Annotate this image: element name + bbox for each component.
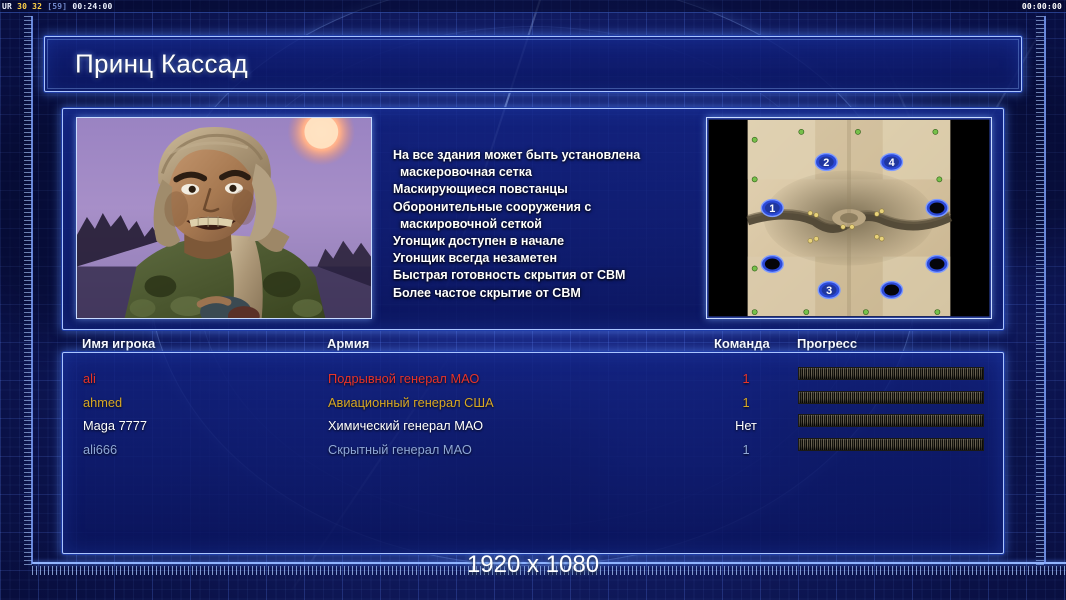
- column-header-progress: Прогресс: [797, 336, 857, 351]
- table-row[interactable]: ahmedАвиационный генерал США1: [63, 391, 1005, 414]
- description-line: Более частое скрытие от СВМ: [393, 285, 693, 302]
- player-list-panel: aliПодрывной генерал МАО1ahmedАвиационны…: [62, 352, 1004, 554]
- hud-left-timer: 00:24:00: [72, 2, 112, 11]
- player-progress-bar: [798, 414, 984, 427]
- column-header-team: Команда: [714, 336, 770, 351]
- general-portrait: [76, 117, 372, 319]
- player-progress-bar: [798, 438, 984, 451]
- progress-fill: [798, 367, 984, 380]
- spawn-marker-label: 3: [826, 285, 832, 297]
- player-name: Maga 7777: [83, 414, 147, 437]
- description-line: маскировочной сеткой: [393, 216, 693, 233]
- description-line: Оборонительные сооружения с: [393, 199, 693, 216]
- progress-fill: [798, 438, 984, 451]
- map-preview-image: 1243: [707, 118, 991, 318]
- spawn-marker-label: 2: [823, 157, 829, 169]
- hud-label: UR: [2, 2, 12, 11]
- ruler-left-line: [31, 16, 33, 564]
- description-line: Быстрая готовность скрытия от СВМ: [393, 267, 693, 284]
- map-preview[interactable]: 1243: [706, 117, 992, 319]
- spawn-marker-core: [884, 284, 899, 295]
- ruler-right-line: [1044, 16, 1046, 564]
- title-panel: Принц Кассад: [44, 36, 1022, 92]
- player-team: 1: [731, 438, 761, 461]
- player-progress-bar: [798, 367, 984, 380]
- progress-fill: [798, 391, 984, 404]
- general-portrait-image: [77, 118, 371, 318]
- player-name: ahmed: [83, 391, 122, 414]
- table-row[interactable]: Maga 7777Химический генерал МАОНет: [63, 414, 1005, 437]
- column-header-name: Имя игрока: [82, 336, 155, 351]
- player-name: ali: [83, 367, 96, 390]
- top-hud-bar: UR 30 32 [59] 00:24:00 00:00:00: [0, 0, 1066, 13]
- page-title: Принц Кассад: [75, 49, 248, 80]
- player-team: 1: [731, 391, 761, 414]
- hud-num1: 30: [17, 2, 27, 11]
- player-army: Авиационный генерал США: [328, 391, 494, 414]
- description-line: На все здания может быть установлена: [393, 147, 693, 164]
- player-army: Скрытный генерал МАО: [328, 438, 472, 461]
- description-line: Маскирующиеся повстанцы: [393, 181, 693, 198]
- table-row[interactable]: aliПодрывной генерал МАО1: [63, 367, 1005, 390]
- resolution-label: 1920 x 1080: [0, 551, 1066, 579]
- description-line: маскеровочная сетка: [393, 164, 693, 181]
- spawn-marker-core: [930, 202, 945, 213]
- hud-left-status: UR 30 32 [59] 00:24:00: [2, 0, 112, 13]
- hud-num3: [59]: [47, 2, 67, 11]
- hud-right-timer: 00:00:00: [1022, 0, 1062, 13]
- description-line: Угонщик всегда незаметен: [393, 250, 693, 267]
- player-team: Нет: [731, 414, 761, 437]
- spawn-marker-core: [930, 258, 945, 269]
- player-army: Химический генерал МАО: [328, 414, 483, 437]
- hud-num2: 32: [32, 2, 42, 11]
- player-army: Подрывной генерал МАО: [328, 367, 479, 390]
- player-progress-bar: [798, 391, 984, 404]
- general-info-panel: На все здания может быть установлена мас…: [62, 108, 1004, 330]
- player-name: ali666: [83, 438, 117, 461]
- table-row[interactable]: ali666Скрытный генерал МАО1: [63, 438, 1005, 461]
- progress-fill: [798, 414, 984, 427]
- column-header-army: Армия: [327, 336, 369, 351]
- spawn-marker-label: 4: [889, 157, 895, 169]
- spawn-marker-core: [765, 258, 780, 269]
- spawn-marker-label: 1: [769, 203, 775, 215]
- player-team: 1: [731, 367, 761, 390]
- description-line: Угонщик доступен в начале: [393, 233, 693, 250]
- ruler-right: [1036, 16, 1044, 566]
- general-description: На все здания может быть установлена мас…: [393, 147, 693, 302]
